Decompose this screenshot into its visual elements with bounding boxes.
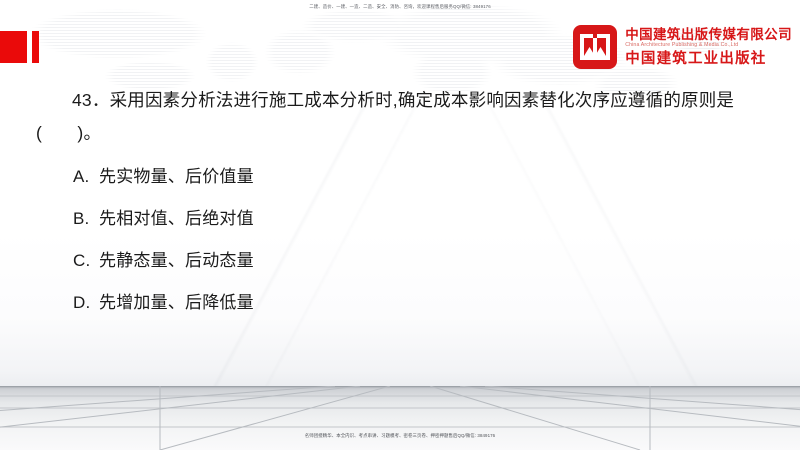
company-name-cn: 中国建筑出版传媒有限公司 — [625, 28, 792, 42]
option-c[interactable]: C. 先静态量、后动态量 — [73, 246, 673, 288]
option-b[interactable]: B. 先相对值、后绝对值 — [73, 204, 673, 246]
red-bookmark-accent — [0, 31, 39, 63]
option-b-text: 先相对值、后绝对值 — [99, 204, 673, 229]
option-d-key: D. — [73, 293, 99, 313]
perspective-floor — [0, 386, 800, 450]
option-a[interactable]: A. 先实物量、后价值量 — [73, 162, 673, 204]
option-c-text: 先静态量、后动态量 — [99, 246, 673, 271]
option-d[interactable]: D. 先增加量、后降低量 — [73, 288, 673, 330]
company-name-en: China Architecture Publishing & Media Co… — [625, 43, 792, 48]
open-book-logo-mark-icon — [573, 25, 617, 69]
press-name-cn: 中国建筑工业出版社 — [625, 52, 792, 67]
bookmark-bar — [32, 31, 39, 63]
question-stem: 43．采用因素分析法进行施工成本分析时,确定成本影响因素替化次序应遵循的原则是(… — [36, 84, 776, 150]
publisher-logo-text: 中国建筑出版传媒有限公司 China Architecture Publishi… — [625, 28, 792, 66]
header-tagline: 二建、造价、一建、一造、二造、安全、消防、咨询，欢迎课程售后服务QQ/微信: 3… — [0, 3, 800, 11]
bookmark-block — [0, 31, 27, 63]
option-a-text: 先实物量、后价值量 — [99, 162, 673, 187]
presentation-slide: 二建、造价、一建、一造、二造、安全、消防、咨询，欢迎课程售后服务QQ/微信: 3… — [0, 0, 800, 450]
publisher-logo: 中国建筑出版传媒有限公司 China Architecture Publishi… — [573, 25, 792, 69]
footer-tagline: 名师团授精华、本全内识、考点串讲、习题模考、密卷三页卷、押密押题售后QQ/微信:… — [0, 432, 800, 440]
option-d-text: 先增加量、后降低量 — [99, 288, 673, 313]
floor-grid-lines — [0, 386, 800, 450]
option-c-key: C. — [73, 251, 99, 271]
option-list: A. 先实物量、后价值量 B. 先相对值、后绝对值 C. 先静态量、后动态量 D… — [73, 162, 673, 330]
option-b-key: B. — [73, 209, 99, 229]
option-a-key: A. — [73, 167, 99, 187]
